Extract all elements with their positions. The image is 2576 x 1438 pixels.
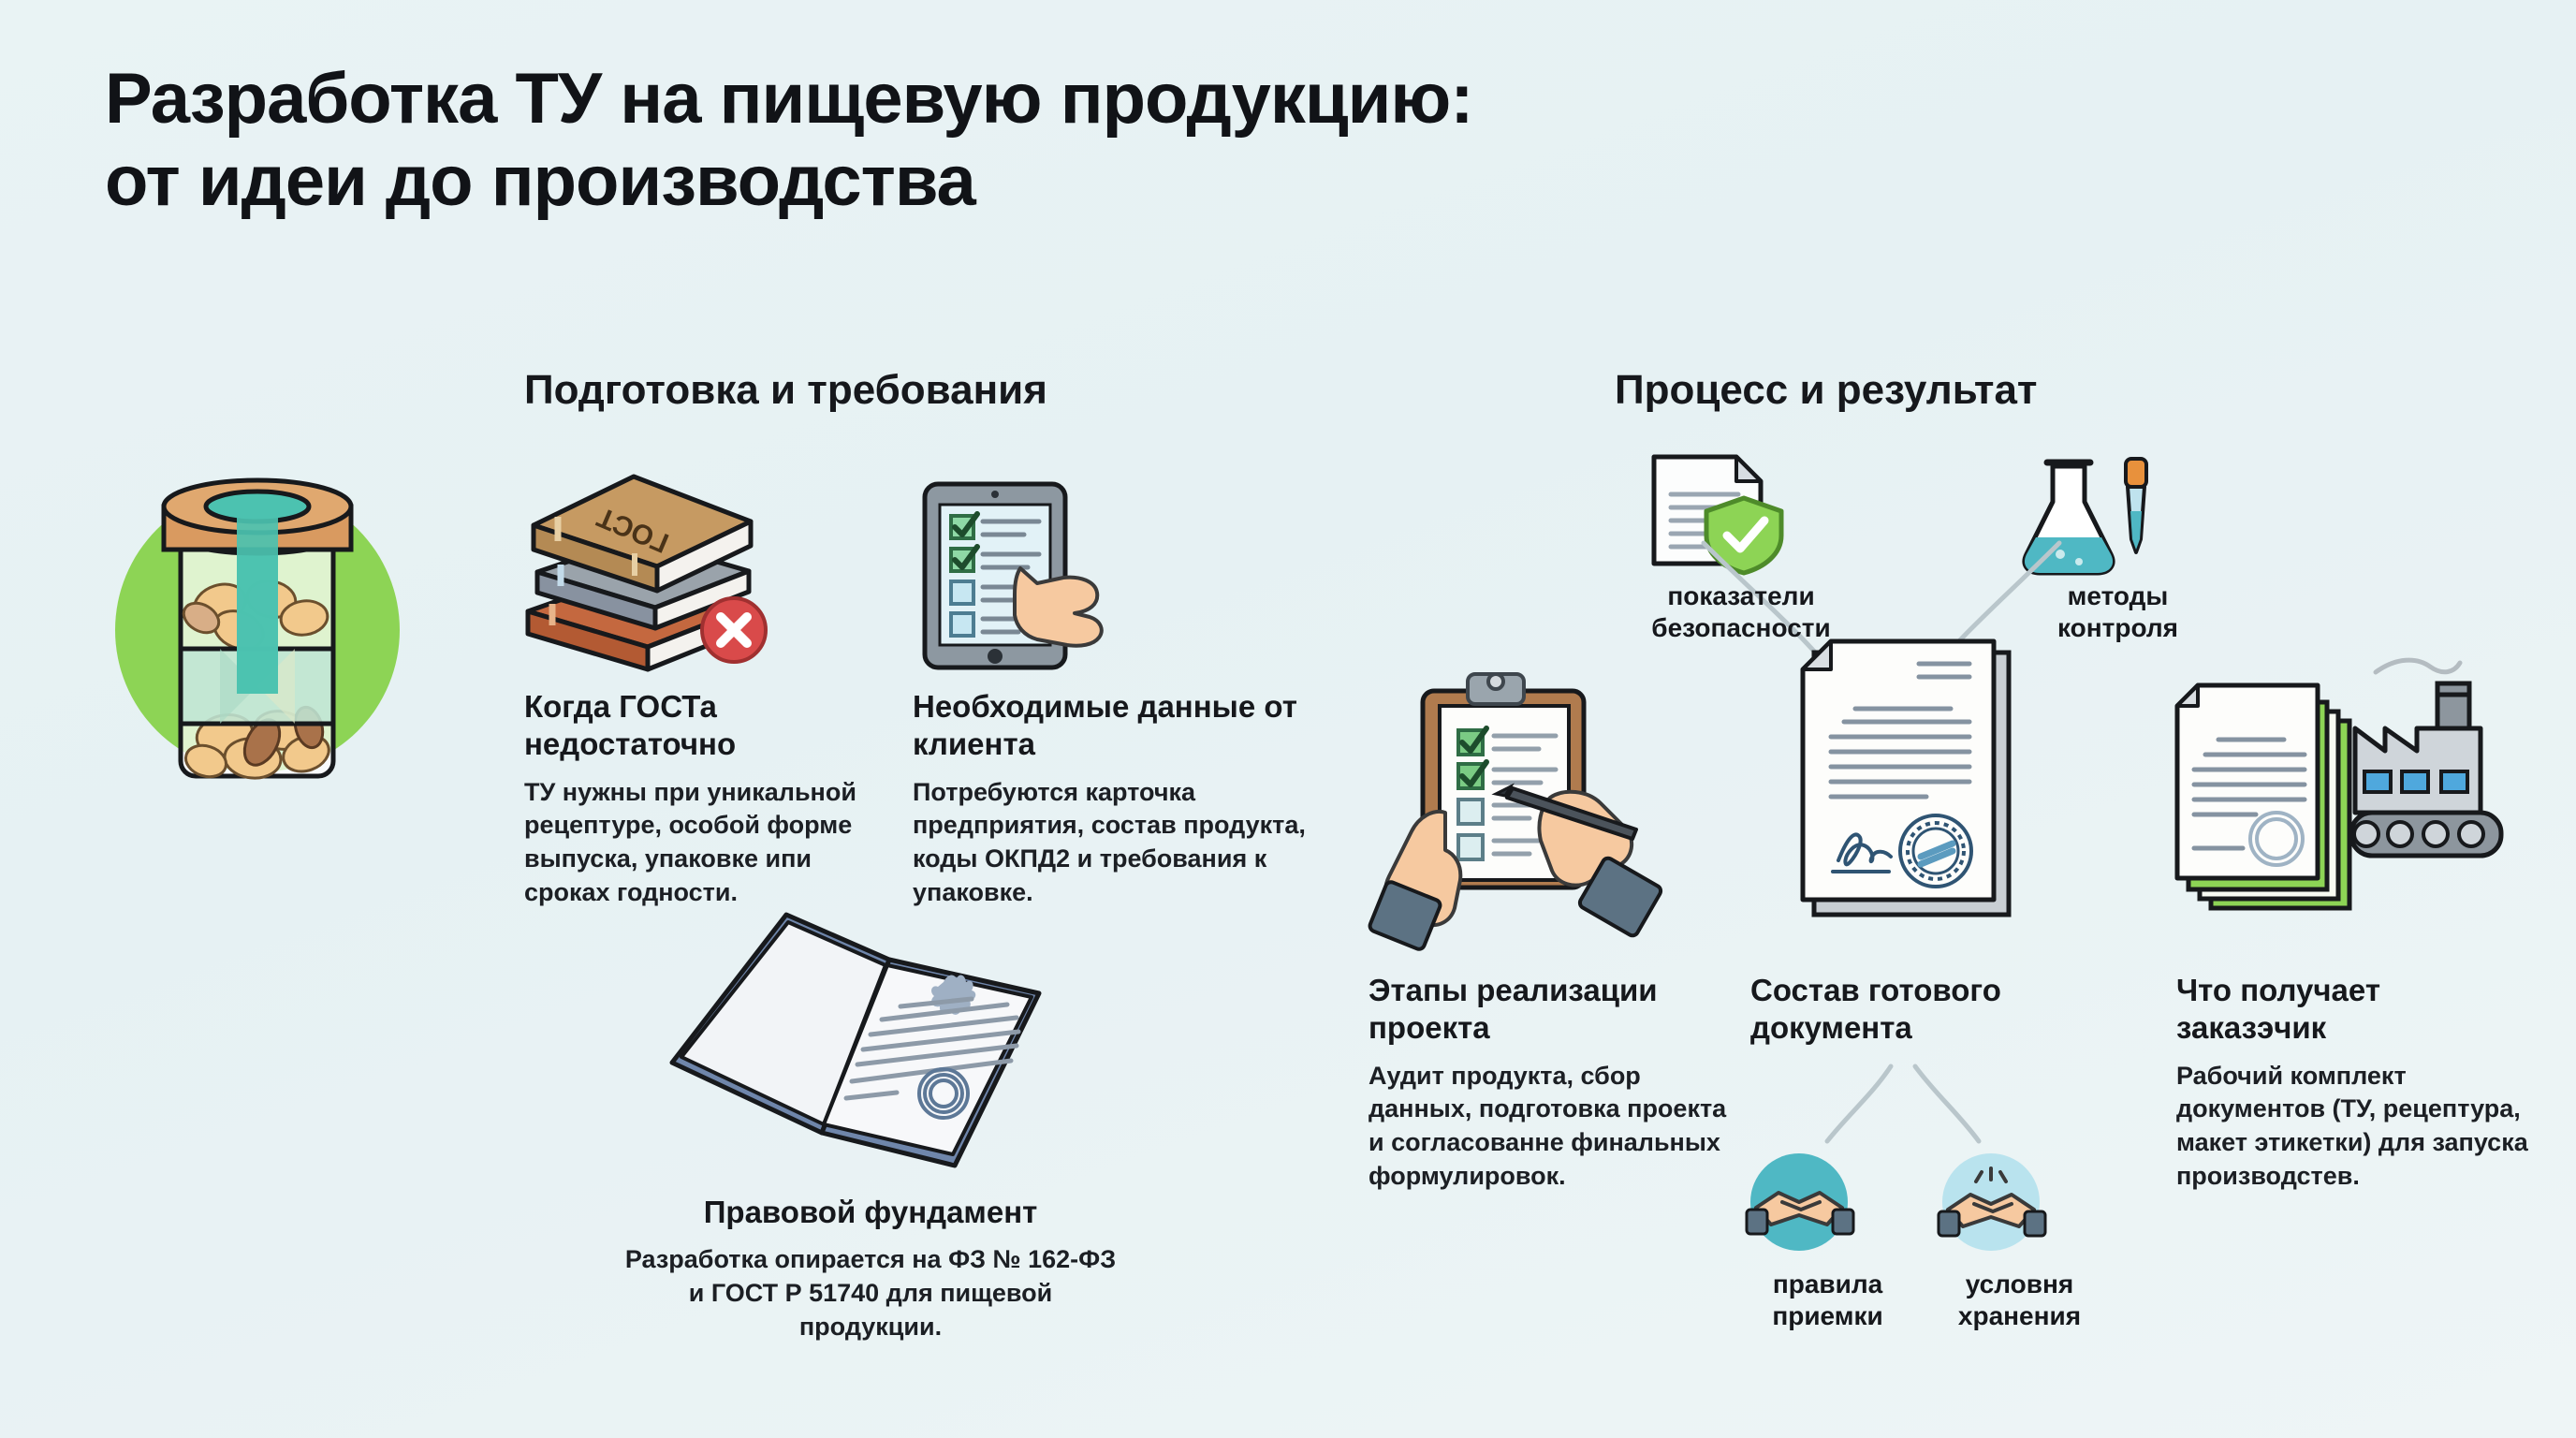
card-composition-title: Состав готового документа [1750, 972, 2069, 1048]
card-legal-foundation: Правовой фундамент Разработка опирается … [618, 1194, 1123, 1344]
page-title: Разработка ТУ на пищевую продукцию: от и… [105, 58, 2258, 223]
card-client-title: Необходимые данные от клиента [913, 688, 1306, 764]
factory-documents-illustration [2162, 655, 2565, 941]
card-project-stages: Этапы реализации проекта Аудит продукта,… [1368, 972, 1748, 1194]
card-gost-insufficient: Когда ГОСТа недостаточно ТУ нужны при ун… [524, 688, 885, 910]
clipboard-hands-illustration [1355, 655, 1702, 960]
card-customer-receives: Что получает заказэчик Рабочий комплект … [2176, 972, 2532, 1194]
card-gost-title: Когда ГОСТа недостаточно [524, 688, 885, 764]
card-customer-body: Рабочий комплект документов (ТУ, рецепту… [2176, 1060, 2532, 1195]
card-gost-body: ТУ нужны при уникальной рецептуре, особо… [524, 776, 885, 911]
card-stages-body: Аудит продукта, сбор данных, подготовка … [1368, 1060, 1748, 1195]
handshake-storage-illustration [1933, 1144, 2050, 1266]
card-legal-body: Разработка опирается на ФЗ № 162-ФЗ и ГО… [618, 1243, 1123, 1344]
card-document-composition: Состав готового документа [1750, 972, 2069, 1048]
section-header-process: Процесс и результат [1615, 367, 2037, 414]
card-stages-title: Этапы реализации проекта [1368, 972, 1748, 1048]
signed-contract-illustration [1786, 632, 2067, 946]
card-legal-title: Правовой фундамент [618, 1194, 1123, 1231]
card-customer-title: Что получает заказэчик [2176, 972, 2532, 1048]
law-book-illustration [646, 903, 1067, 1189]
close-icon [702, 598, 766, 662]
page-title-line-2: от идеи до производства [105, 140, 2258, 223]
card-client-body: Потребуются карточка предприятия, состав… [913, 776, 1306, 911]
label-control-methods: методы контроля [2017, 580, 2218, 644]
label-safety-indicators: показатели безопасности [1624, 580, 1858, 644]
nut-jar-illustration [70, 426, 445, 824]
label-acceptance-rules: правила приемки [1736, 1269, 1919, 1332]
gost-books-illustration: ГОСТ [517, 463, 788, 679]
page-title-line-1: Разработка ТУ на пищевую продукцию: [105, 58, 2258, 140]
handshake-acceptance-illustration [1741, 1144, 1858, 1266]
label-storage-conditions: условня хранения [1928, 1269, 2111, 1332]
section-header-preparation: Подготовка и требования [524, 367, 1047, 414]
card-client-data: Необходимые данные от клиента Потребуютс… [913, 688, 1306, 910]
tablet-checklist-illustration [897, 454, 1135, 679]
